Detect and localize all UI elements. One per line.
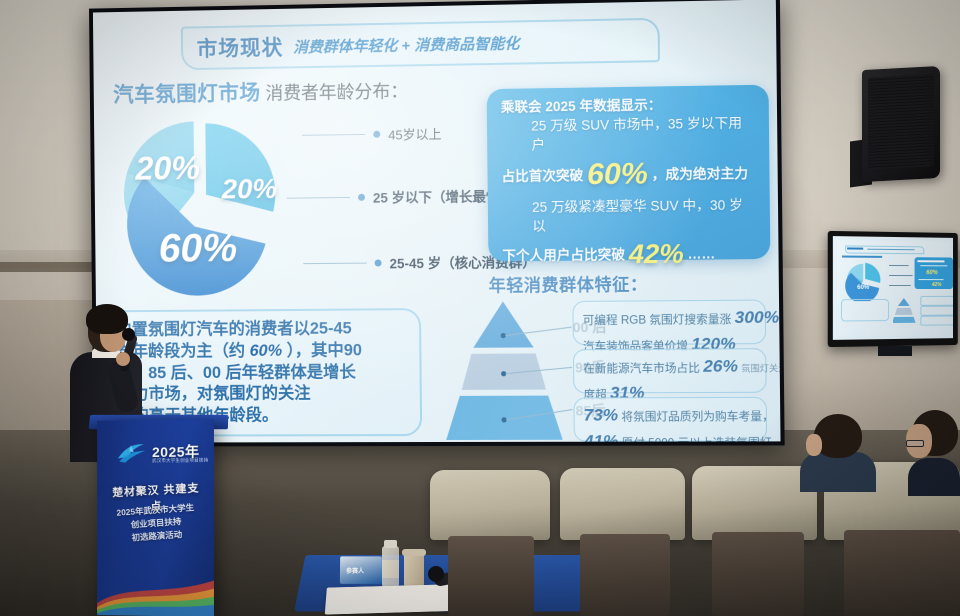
detail-00-line-1: 可编程 RGB 氛围灯搜索量涨 300% （同比）: [583, 305, 756, 332]
presentation-slide: 市场现状 消费群体年轻化 + 消费商品智能化 汽车氛围灯市场 消费者年龄分布：: [93, 0, 781, 443]
card-highlight-42: 42%: [629, 239, 684, 270]
card-line-5-prefix: 下个人用户占比突破: [502, 248, 625, 264]
speaker-grill-icon: [868, 74, 934, 169]
microphone-head-icon: [122, 328, 135, 341]
side-monitor-slide: 60% 60% 42%: [837, 240, 949, 336]
age-distribution-pie-chart: 20% 20% 60%: [104, 108, 317, 299]
projection-screen: 市场现状 消费群体年轻化 + 消费商品智能化 汽车氛围灯市场 消费者年龄分布：: [89, 0, 785, 447]
mini-title-text: [847, 247, 863, 249]
detail-box-85: 73% 将氛围灯品质列为购车考量， 41% 愿付 5000 元以上选装氛围灯: [573, 397, 767, 442]
section-heading-normal: 消费者年龄分布：: [265, 77, 408, 105]
card-line-3-prefix: 占比首次突破: [502, 169, 584, 185]
table-papers: [325, 584, 454, 614]
podium-event-name: 2025年武汉市大学生 创业项目扶持 初选路演活动: [106, 500, 208, 546]
chair-base: [712, 532, 804, 616]
event-podium: 2025年 武汉市大学生创业项目扶持 楚材聚汉 共建支点 2025年武汉市大学生…: [97, 419, 214, 616]
note-highlight-60: 60%: [249, 342, 282, 360]
card-line-3-suffix: ，成为绝对主力: [652, 166, 749, 182]
legend-label-45-plus: 45岁以上: [388, 124, 442, 144]
statistics-info-card: 乘联会 2025 年数据显示： 25 万级 SUV 市场中，35 岁以下用户 占…: [487, 85, 771, 262]
podium-star-icon: [115, 442, 150, 464]
legend-dot-icon: [358, 193, 365, 200]
detail-85-line-2: 41% 愿付 5000 元以上选装氛围灯: [584, 428, 757, 443]
pie-slice-under-25: [205, 122, 275, 212]
paper-cup: [404, 553, 424, 589]
detail-95-note-1: 氛围灯关注: [741, 363, 780, 373]
legend-connector-line: [302, 134, 365, 136]
detail-00-value-1: 300%: [735, 308, 780, 328]
mini-pie-chart: 60%: [841, 261, 889, 302]
note-line-3: 后、85 后、00 后年轻群体是增长: [116, 362, 408, 385]
card-line-2: 25 万级 SUV 市场中，35 岁以下用户: [501, 113, 755, 155]
mini-legend-2: [889, 275, 913, 276]
audience-member-glasses-icon: [906, 440, 924, 447]
legend-dot-icon: [373, 131, 380, 138]
note-line-1: 内置氛围灯汽车的消费者以25-45: [116, 318, 408, 341]
card-highlight-60: 60%: [587, 158, 648, 192]
mini-legend-3: [889, 285, 911, 286]
mini-legend-1: [889, 265, 909, 267]
legend-dot-icon: [375, 259, 382, 266]
audience-member-face: [806, 434, 822, 456]
legend-connector-line: [303, 262, 366, 264]
pyramid-level-00: [473, 301, 534, 348]
audience-member-shoulders: [800, 452, 876, 492]
note-line-2-b: ），其中90: [287, 341, 363, 359]
audience-member-head: [814, 414, 862, 458]
subsection-heading: 年轻消费群体特征：: [489, 270, 648, 296]
name-card-text: 参赛人: [346, 566, 364, 575]
chair-base: [448, 536, 534, 616]
detail-85-text-1: 将氛围灯品质列为购车考量，: [621, 411, 774, 424]
section-heading: 汽车氛围灯市场 消费者年龄分布：: [113, 74, 408, 108]
card-line-5-suffix: ……: [688, 247, 716, 262]
note-line-2: 岁年龄段为主（约 60% ），其中90: [116, 340, 408, 363]
detail-85-value-1: 73%: [584, 405, 619, 424]
detail-box-00: 可编程 RGB 氛围灯搜索量涨 300% （同比） 汽车装饰品客单价增 120%: [572, 300, 766, 346]
mini-pyramid: [893, 297, 916, 323]
detail-95-value-1: 26%: [703, 356, 738, 375]
paper-cup-lid: [402, 549, 426, 556]
audience-chair: [692, 466, 817, 540]
legend-connector-line: [287, 196, 350, 198]
legend-item-45-plus: 45岁以上: [302, 124, 442, 145]
slide-title-ribbon: 市场现状 消费群体年轻化 + 消费商品智能化: [181, 18, 660, 70]
side-monitor: 60% 60% 42%: [828, 231, 958, 347]
detail-85-line-1: 73% 将氛围灯品质列为购车考量，: [584, 402, 757, 428]
detail-85-value-2: 41%: [584, 431, 619, 443]
svg-text:60%: 60%: [857, 285, 870, 291]
slide-title-subtitle: 消费群体年轻化 + 消费商品智能化: [293, 32, 519, 57]
audience-chair: [560, 468, 685, 540]
screenshot-root: 市场现状 消费群体年轻化 + 消费商品智能化 汽车氛围灯市场 消费者年龄分布：: [0, 0, 960, 616]
water-bottle: [382, 546, 399, 588]
detail-box-95: 在新能源汽车市场占比 26% 氛围灯关注 度超 31%: [573, 348, 767, 393]
mini-section-heading: [842, 255, 882, 258]
detail-00-text-1: 可编程 RGB 氛围灯搜索量涨: [583, 314, 732, 327]
pie-chart-svg: [104, 108, 317, 299]
audience-member-shoulders: [908, 458, 960, 496]
mini-detail-2: [920, 306, 953, 316]
detail-95-line-1: 在新能源汽车市场占比 26% 氛围灯关注: [583, 353, 756, 380]
mini-detail-1: [920, 296, 953, 306]
mini-detail-3: [920, 316, 953, 326]
mini-note-box: [841, 299, 889, 321]
card-line-5: 下个人用户占比突破 42% ……: [502, 234, 756, 275]
card-line-3: 占比首次突破 60% ，成为绝对主力: [501, 152, 755, 198]
audience-chair: [430, 470, 550, 540]
wall-speaker: [862, 66, 940, 182]
presenter-hand: [116, 352, 130, 366]
card-line-2-text: 25 万级 SUV 市场中，35 岁以下用户: [531, 116, 742, 153]
note-line-4: 主力市场，对氛围灯的关注: [116, 383, 408, 406]
chair-base: [844, 530, 960, 616]
chair-base: [580, 534, 670, 616]
section-heading-strong: 汽车氛围灯市场: [113, 77, 261, 109]
card-line-4: 25 万级紧凑型豪华 SUV 中，30 岁以: [502, 195, 756, 236]
presenter-hair: [86, 304, 128, 334]
side-monitor-stand: [878, 346, 912, 356]
water-bottle-cap: [384, 540, 397, 548]
detail-85-text-2: 愿付 5000 元以上选装氛围灯: [622, 437, 772, 443]
table-microphone-head-icon: [428, 566, 444, 582]
podium-ribbon-graphic: [97, 556, 214, 616]
podium-org-line: 武汉市大学生创业项目扶持: [152, 458, 208, 465]
slide-title-main: 市场现状: [197, 32, 284, 63]
detail-95-text-1: 在新能源汽车市场占比: [583, 363, 700, 376]
mini-blue-card: 60% 42%: [915, 257, 953, 289]
side-monitor-screen: 60% 60% 42%: [833, 236, 953, 340]
